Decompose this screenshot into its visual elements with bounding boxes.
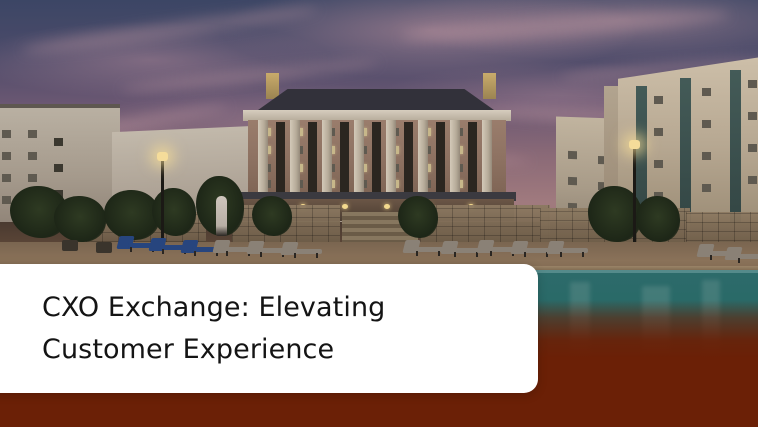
stone-retaining-wall [420, 205, 550, 245]
portico-light [384, 204, 390, 209]
patio-table [96, 242, 112, 253]
facade-column [290, 120, 300, 196]
facade-column [258, 120, 268, 196]
promo-banner: CXO Exchange: Elevating Customer Experie… [0, 0, 758, 427]
facade-column [322, 120, 332, 196]
facade-column [482, 120, 492, 196]
title-line-1: CXO Exchange: Elevating [42, 287, 538, 329]
cloud-streak [400, 5, 731, 48]
title-line-2: Customer Experience [42, 329, 538, 371]
facade-column [386, 120, 396, 196]
patio-table [62, 240, 78, 251]
lamp-post [633, 148, 636, 248]
bottom-brand-band [0, 393, 758, 427]
lounge-chair [282, 242, 322, 257]
chimney [266, 73, 279, 99]
lamp-light-icon [157, 152, 168, 161]
lounge-chair [404, 240, 444, 255]
lounge-chair [442, 241, 482, 256]
lamp-light-icon [629, 140, 640, 149]
patio-umbrella [216, 196, 227, 236]
cloud-streak [20, 1, 319, 59]
tree [54, 196, 106, 242]
facade-column [450, 120, 460, 196]
title-card: CXO Exchange: Elevating Customer Experie… [0, 264, 538, 393]
tree [636, 196, 680, 242]
lamp-post [161, 160, 164, 246]
chimney [483, 73, 496, 99]
facade-column [354, 120, 364, 196]
lounge-chair [726, 247, 758, 262]
portico-light [342, 204, 348, 209]
tree [398, 196, 438, 238]
facade-column [418, 120, 428, 196]
lounge-chair [548, 241, 588, 256]
lounge-chair [512, 241, 552, 256]
tree [152, 188, 196, 236]
tree [252, 196, 292, 236]
